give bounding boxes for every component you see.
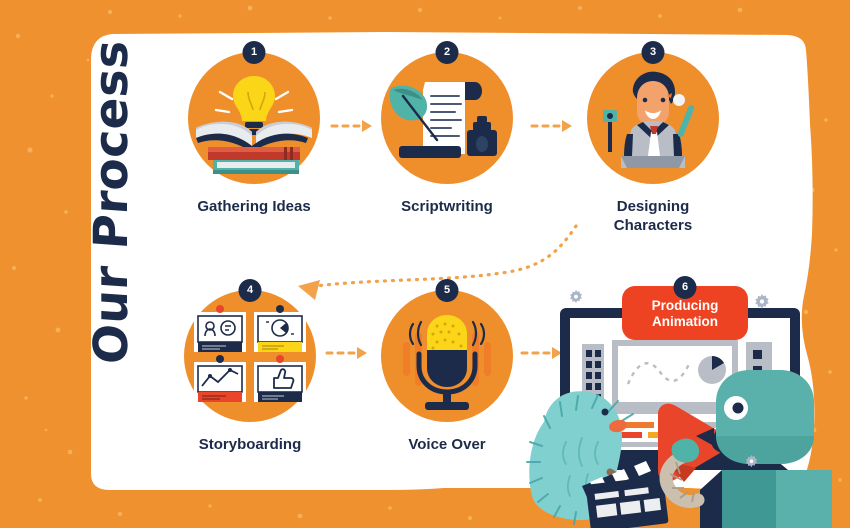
step-4-label: Storyboarding (165, 436, 335, 455)
step-2-disc: 2 (381, 52, 513, 184)
step-6-badge: 6 (674, 276, 697, 299)
arrow-step2-to-step3 (530, 118, 576, 134)
step-6-label-line-2: Animation (630, 314, 740, 330)
lightbulb-books-icon (188, 52, 320, 184)
step-6-label-line-1: Producing (630, 298, 740, 314)
arrow-step1-to-step2 (330, 118, 376, 134)
robot-character (666, 370, 832, 528)
step-4-disc: 4 (184, 290, 316, 422)
step-2-label: Scriptwriting (362, 198, 532, 217)
storyboard-cards-icon (184, 290, 316, 422)
step-5-disc: 5 (381, 290, 513, 422)
page-title-text: Our Process (84, 38, 139, 366)
character-designer-icon (587, 52, 719, 184)
arrow-step4-to-step5 (325, 345, 371, 361)
step-3-disc: 3 (587, 52, 719, 184)
step-4-storyboarding[interactable]: 4 (165, 290, 335, 455)
step-3-label-line-2: Characters (568, 217, 738, 236)
page-title: Our Process (81, 47, 141, 357)
step-5-badge: 5 (436, 279, 459, 302)
step-3-designing-characters[interactable]: 3 Design (568, 52, 738, 236)
quill-scroll-inkwell-icon (381, 52, 513, 184)
step-2-badge: 2 (436, 41, 459, 64)
gear-icon-bottom (744, 455, 759, 470)
bottom-character-scene (470, 350, 850, 528)
step-2-scriptwriting[interactable]: 2 Scriptwriting (362, 52, 532, 217)
gear-icon-left (568, 290, 584, 306)
gear-icon-right (753, 294, 771, 312)
step-1-disc: 1 (188, 52, 320, 184)
step-3-label-line-1: Designing (568, 198, 738, 217)
microphone-icon (381, 290, 513, 422)
step-1-label: Gathering Ideas (169, 198, 339, 217)
step-6-label-card[interactable]: 6 Producing Animation (622, 286, 748, 340)
poster-canvas: Our Process 1 (0, 0, 850, 528)
step-1-badge: 1 (243, 41, 266, 64)
step-1-gathering-ideas[interactable]: 1 (169, 52, 339, 217)
step-3-badge: 3 (642, 41, 665, 64)
step-4-badge: 4 (239, 279, 262, 302)
step-3-label: Designing Characters (568, 198, 738, 236)
